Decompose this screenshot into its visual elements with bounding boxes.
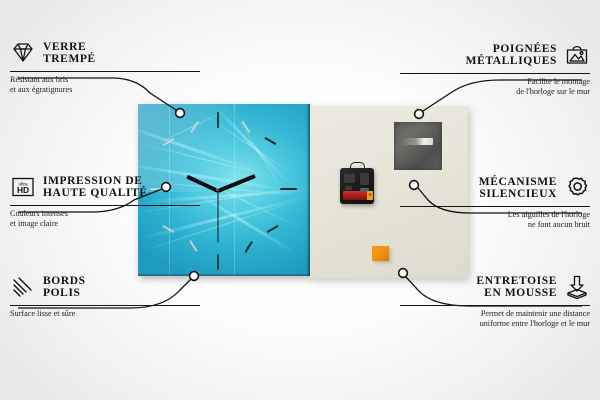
feature-mecanisme-silencieux: MÉCANISME SILENCIEUX Les aiguilles de l'…	[400, 173, 590, 230]
metal-hanger-plate	[394, 122, 442, 170]
feature-description: Résistant aux bris et aux égratignures	[10, 75, 200, 95]
gear-icon	[564, 175, 590, 201]
feature-divider	[10, 71, 200, 72]
mechanism-hanging-loop	[350, 162, 365, 171]
feature-divider	[400, 305, 590, 306]
feature-description: Facilite le montage de l'horloge sur le …	[400, 77, 590, 97]
feature-title: ENTRETOISE EN MOUSSE	[476, 275, 557, 300]
foam-spacer	[372, 246, 389, 261]
feature-poignees-metalliques: POIGNÉES MÉTALLIQUES Facilite le montage…	[400, 40, 590, 97]
feature-title: MÉCANISME SILENCIEUX	[479, 176, 557, 201]
feature-title: VERRE TREMPÉ	[43, 41, 96, 66]
diamond-icon	[10, 40, 36, 66]
feature-description: Couleurs intenses et image claire	[10, 209, 200, 229]
feature-description: Permet de maintenir une distance uniform…	[400, 309, 590, 329]
battery-plus-terminal: +	[367, 191, 373, 200]
feature-divider	[400, 206, 590, 207]
foam-spacer-icon	[564, 274, 590, 300]
polished-edges-icon	[10, 274, 36, 300]
hanger-keyhole-slot	[403, 138, 433, 145]
feature-bords-polis: BORDS POLIS Surface lisse et sûre	[10, 272, 200, 319]
infographic-canvas: +	[0, 0, 600, 400]
feature-divider	[10, 305, 200, 306]
battery: +	[343, 191, 370, 200]
feature-entretoise-en-mousse: ENTRETOISE EN MOUSSE Permet de maintenir…	[400, 272, 590, 329]
feature-impression-haute-qualite: ultra HD IMPRESSION DE HAUTE QUALITÉ Cou…	[10, 172, 200, 229]
feature-description: Surface lisse et sûre	[10, 309, 200, 319]
quartz-mechanism: +	[340, 168, 374, 204]
svg-text:HD: HD	[17, 185, 29, 195]
feature-description: Les aiguilles de l'horloge ne font aucun…	[400, 210, 590, 230]
feature-title: POIGNÉES MÉTALLIQUES	[466, 43, 557, 68]
feature-divider	[10, 205, 200, 206]
ultra-hd-icon: ultra HD	[10, 174, 36, 200]
wall-hanger-icon	[564, 42, 590, 68]
feature-verre-trempe: VERRE TREMPÉ Résistant aux bris et aux é…	[10, 38, 200, 95]
feature-title: BORDS POLIS	[43, 275, 86, 300]
feature-divider	[400, 73, 590, 74]
feature-title: IMPRESSION DE HAUTE QUALITÉ	[43, 175, 148, 200]
